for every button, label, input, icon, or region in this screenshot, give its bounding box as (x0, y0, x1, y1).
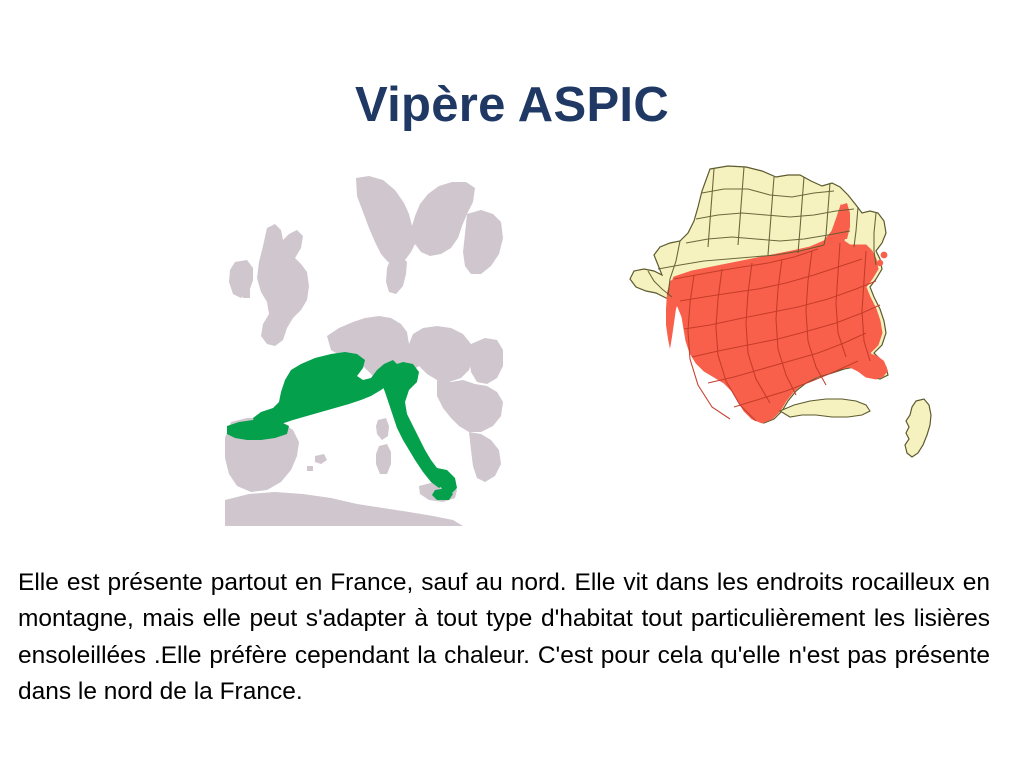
france-distribution-map-graphic (618, 161, 948, 471)
france-distribution-map (618, 161, 948, 471)
figures-row (0, 140, 1024, 525)
land-small-isle (243, 276, 250, 298)
land-balearic-speck-2 (307, 466, 313, 471)
land-sardinia (376, 444, 391, 474)
europe-distribution-map-graphic (223, 168, 505, 526)
france-present-alsace-band (839, 203, 850, 239)
france-present-dot-alsace-2 (877, 260, 883, 266)
france-present-dot-alsace-1 (881, 252, 888, 259)
page-title: Vipère ASPIC (0, 75, 1024, 135)
body-paragraph: Elle est présente partout en France, sau… (18, 565, 990, 711)
europe-distribution-map (223, 168, 505, 526)
